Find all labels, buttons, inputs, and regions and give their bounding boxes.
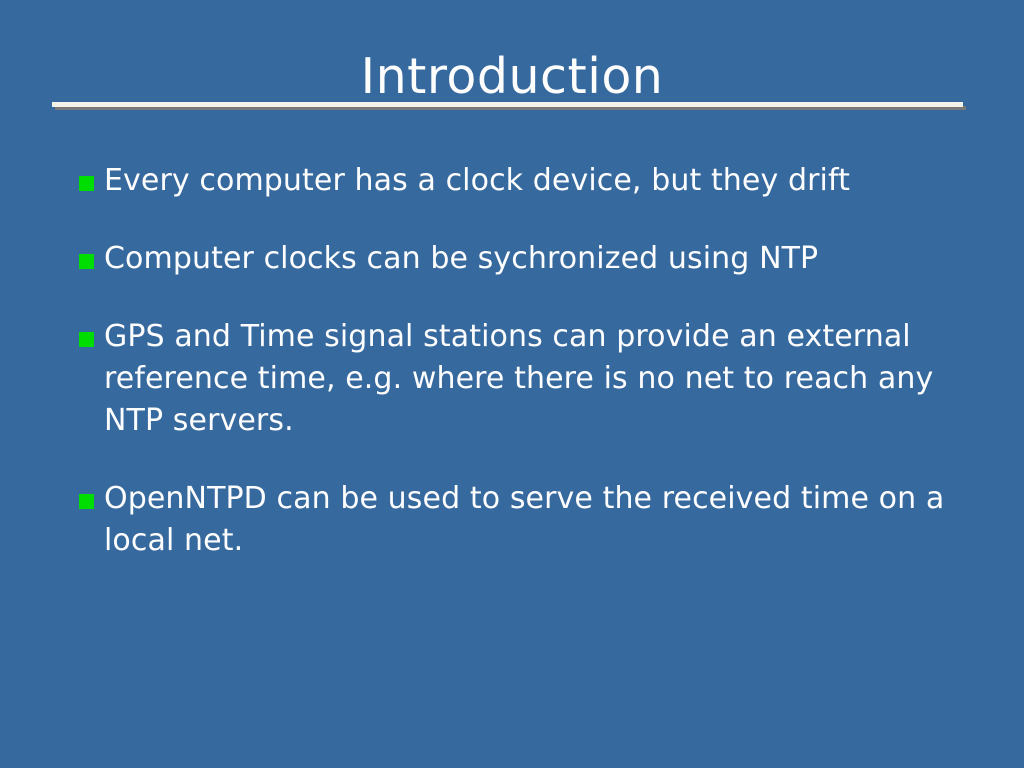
list-item: Every computer has a clock device, but t… [79,160,959,202]
list-item-label: Every computer has a clock device, but t… [104,160,959,202]
square-bullet-icon [79,176,94,191]
page-title: Introduction [0,48,1024,106]
list-item: Computer clocks can be sychronized using… [79,238,959,280]
presentation-slide: Introduction Every computer has a clock … [0,0,1024,768]
list-item-label: OpenNTPD can be used to serve the receiv… [104,478,959,562]
title-underline-bar [52,102,963,107]
title-underline-rule [52,102,963,111]
list-item-label: GPS and Time signal stations can provide… [104,316,959,442]
square-bullet-icon [79,494,94,509]
square-bullet-icon [79,254,94,269]
square-bullet-icon [79,332,94,347]
list-item: GPS and Time signal stations can provide… [79,316,959,442]
list-item: OpenNTPD can be used to serve the receiv… [79,478,959,562]
list-item-label: Computer clocks can be sychronized using… [104,238,959,280]
bullet-list: Every computer has a clock device, but t… [79,160,959,562]
